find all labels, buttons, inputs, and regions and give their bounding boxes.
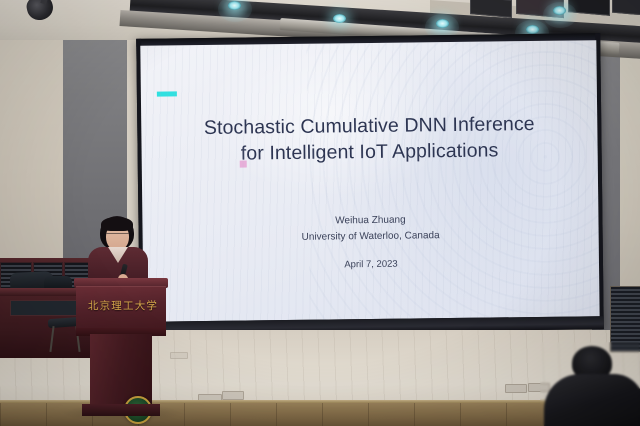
slide-author-block: Weihua Zhuang University of Waterloo, Ca… (142, 210, 598, 248)
slide-title: Stochastic Cumulative DNN Inference for … (141, 110, 598, 168)
slide-title-line-2: for Intelligent IoT Applications (141, 136, 597, 168)
left-wall (0, 0, 70, 300)
spotlight-3 (436, 19, 449, 28)
audience-member (548, 352, 640, 426)
spotlight-5 (228, 1, 241, 10)
lectern-university-name: 北京理工大学 (76, 298, 170, 313)
slide-title-line-1: Stochastic Cumulative DNN Inference (204, 113, 535, 139)
lectern-front-panel: 北京理工大学 (76, 286, 166, 330)
spotlight-1 (553, 6, 566, 15)
lectern: 北京理工大学 (74, 278, 168, 418)
floor-outlet-box-3 (505, 384, 527, 393)
slide-date: April 7, 2023 (143, 256, 599, 273)
audience-blur-overlay (540, 342, 640, 426)
screen-scanline-texture (140, 40, 599, 322)
glasses-icon (106, 233, 129, 239)
lectern-base (82, 404, 160, 416)
slide-surface: Stochastic Cumulative DNN Inference for … (140, 40, 599, 322)
presenter-hair-fringe (101, 217, 133, 231)
floor-outlet-box-2 (222, 391, 244, 400)
floor-outlet-box-5 (170, 352, 188, 359)
projection-screen: Stochastic Cumulative DNN Inference for … (136, 33, 604, 335)
presentation-room-photo: Stochastic Cumulative DNN Inference for … (0, 0, 640, 426)
lectern-column (90, 334, 152, 406)
slide-accent-bar (157, 91, 177, 96)
spotlight-2 (333, 14, 346, 23)
slide-background-arcs (306, 40, 599, 322)
chair-leg-1 (49, 326, 54, 352)
spotlight-4 (526, 25, 539, 34)
